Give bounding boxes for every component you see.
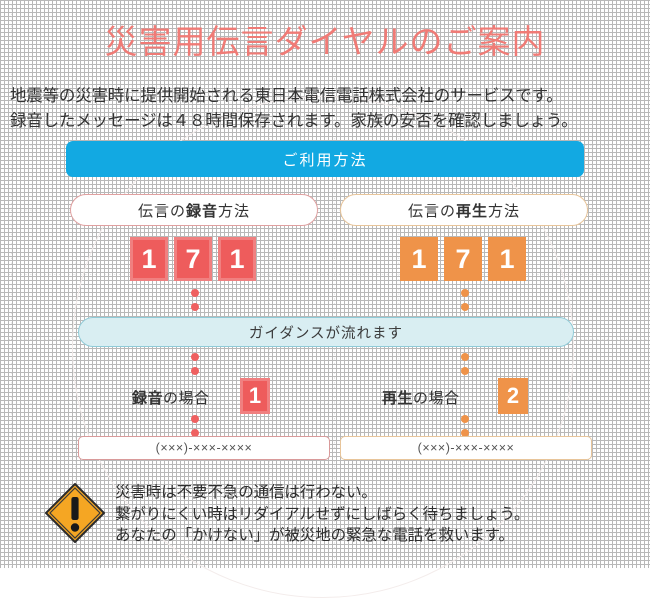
pill-play-method: 伝言の再生方法 <box>340 194 588 226</box>
case-play-suffix: の場合 <box>413 390 460 407</box>
connector-dot <box>461 367 469 375</box>
phone-number-play: (×××)-×××-×××× <box>340 436 592 460</box>
connector-dots-record-mid <box>191 353 199 375</box>
guidance-bar: ガイダンスが流れます <box>78 317 574 347</box>
connector-dots-record-top <box>191 289 199 311</box>
intro-line-2: 録音したメッセージは４８時間保存されます。家族の安否を確認しましょう。 <box>10 109 640 134</box>
dial-digit: 1 <box>130 237 168 281</box>
dial-digit: 7 <box>174 237 212 281</box>
warning-triangle-icon <box>44 482 106 544</box>
warning-line-1: 災害時は不要不急の通信は行わない。 <box>115 482 635 504</box>
usage-banner: ご利用方法 <box>66 141 584 177</box>
dial-digit: 1 <box>400 237 438 281</box>
phone-number-record: (×××)-×××-×××× <box>78 436 330 460</box>
warning-line-2: 繋がりにくい時はリダイアルせずにしばらく待ちましょう。 <box>115 504 635 526</box>
dial-digit: 1 <box>218 237 256 281</box>
pill-record-prefix: 伝言の <box>138 200 186 221</box>
connector-dot <box>461 289 469 297</box>
connector-dots-record-bottom <box>191 415 199 437</box>
pill-play-prefix: 伝言の <box>408 200 456 221</box>
connector-dot <box>191 303 199 311</box>
connector-dot <box>461 303 469 311</box>
case-digit-play: 2 <box>498 378 528 414</box>
warning-text: 災害時は不要不急の通信は行わない。 繋がりにくい時はリダイアルせずにしばらく待ち… <box>115 482 635 547</box>
connector-dot <box>191 415 199 423</box>
dial-digit: 7 <box>444 237 482 281</box>
case-label-record: 録音の場合 <box>132 387 210 408</box>
case-record-suffix: の場合 <box>163 390 210 407</box>
connector-dot <box>461 353 469 361</box>
case-play-bold: 再生 <box>382 390 413 407</box>
connector-dots-play-bottom <box>461 415 469 437</box>
pill-record-bold: 録音 <box>186 200 218 221</box>
connector-dots-play-mid <box>461 353 469 375</box>
connector-dots-play-top <box>461 289 469 311</box>
warning-line-3: あなたの「かけない」が被災地の緊急な電話を救います。 <box>115 525 635 547</box>
dial-number-play: 1 7 1 <box>400 237 526 281</box>
dial-number-record: 1 7 1 <box>130 237 256 281</box>
pill-record-suffix: 方法 <box>218 200 250 221</box>
infographic-canvas: 災害用伝言ダイヤルのご案内 地震等の災害時に提供開始される東日本電信電話株式会社… <box>0 0 650 568</box>
case-label-play: 再生の場合 <box>382 387 460 408</box>
dial-digit: 1 <box>488 237 526 281</box>
connector-dot <box>461 415 469 423</box>
intro-paragraph: 地震等の災害時に提供開始される東日本電信電話株式会社のサービスです。 録音したメ… <box>10 84 640 134</box>
pill-play-bold: 再生 <box>456 200 488 221</box>
connector-dot <box>191 367 199 375</box>
pill-record-method: 伝言の録音方法 <box>70 194 318 226</box>
case-record-bold: 録音 <box>132 390 163 407</box>
intro-line-1: 地震等の災害時に提供開始される東日本電信電話株式会社のサービスです。 <box>10 84 640 109</box>
connector-dot <box>191 289 199 297</box>
page-title: 災害用伝言ダイヤルのご案内 <box>0 22 650 62</box>
case-digit-record: 1 <box>240 378 270 414</box>
pill-play-suffix: 方法 <box>488 200 520 221</box>
connector-dot <box>191 353 199 361</box>
